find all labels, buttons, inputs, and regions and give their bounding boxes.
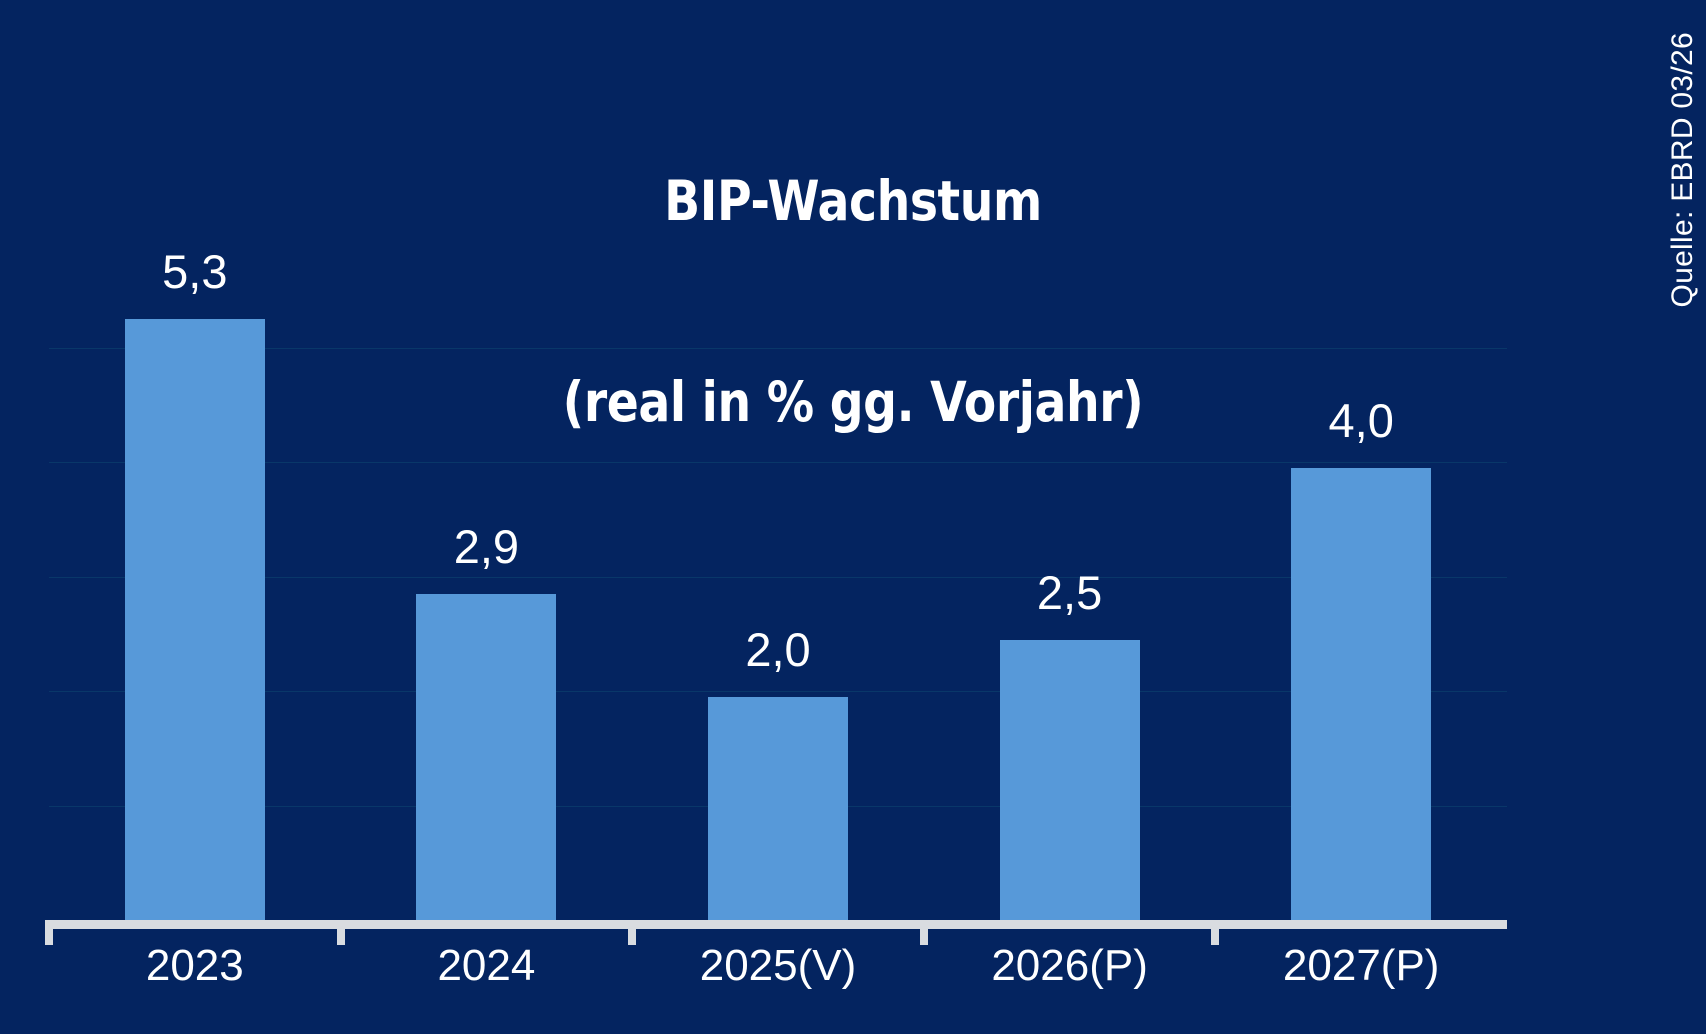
bar-group: 5,3: [125, 251, 265, 926]
bar-group: 4,0: [1291, 251, 1431, 926]
x-axis-line: [49, 920, 1507, 929]
chart-title-line-1: BIP-Wachstum: [119, 168, 1586, 235]
bar-value-label-2025(V): 2,0: [745, 626, 810, 673]
bar-2024[interactable]: [416, 594, 556, 926]
bar-2025(V)[interactable]: [708, 697, 848, 926]
x-axis-label-2025(V): 2025(V): [700, 944, 857, 988]
x-axis-tick: [920, 920, 928, 945]
bar-value-label-2027(P): 4,0: [1329, 397, 1394, 444]
plot-area: 5,32,92,02,54,0: [49, 245, 1507, 926]
bar-2026(P)[interactable]: [1000, 640, 1140, 926]
bar-group: 2,0: [708, 251, 848, 926]
x-axis-tick: [45, 920, 53, 945]
x-axis-label-2027(P): 2027(P): [1283, 944, 1440, 988]
bar-value-label-2026(P): 2,5: [1037, 569, 1102, 616]
bar-2023[interactable]: [125, 319, 265, 926]
x-axis-label-2023: 2023: [146, 944, 244, 988]
bar-value-label-2023: 5,3: [162, 248, 227, 295]
bar-value-label-2024: 2,9: [454, 523, 519, 570]
x-axis-tick: [337, 920, 345, 945]
bar-group: 2,5: [1000, 251, 1140, 926]
x-axis-label-2024: 2024: [437, 944, 535, 988]
x-axis-tick: [1211, 920, 1219, 945]
chart-container: BIP-Wachstum (real in % gg. Vorjahr) Que…: [0, 0, 1706, 1034]
source-note: Quelle: EBRD 03/26: [1666, 32, 1700, 308]
bar-2027(P)[interactable]: [1291, 468, 1431, 926]
bar-group: 2,9: [416, 251, 556, 926]
x-axis-tick: [628, 920, 636, 945]
x-axis-label-2026(P): 2026(P): [991, 944, 1148, 988]
